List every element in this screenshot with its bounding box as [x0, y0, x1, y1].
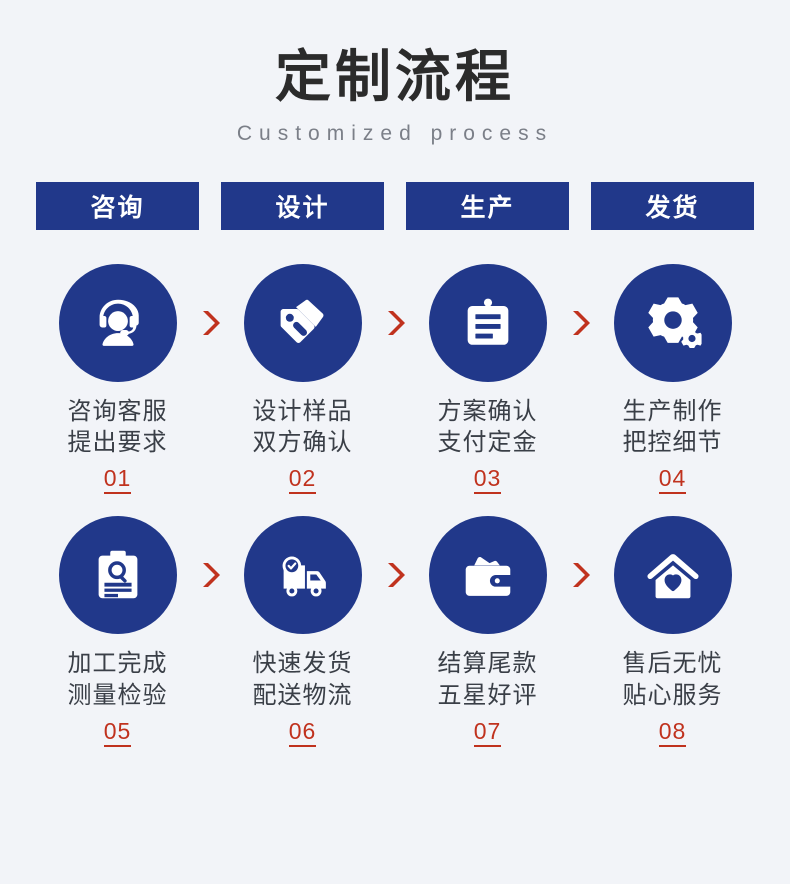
- step-line-2: 双方确认: [221, 427, 384, 459]
- tab-design[interactable]: 设计: [221, 182, 384, 230]
- step-icon-circle: [59, 264, 177, 382]
- step-line-2: 配送物流: [221, 680, 384, 712]
- step-01[interactable]: 咨询客服 提出要求 01: [36, 264, 199, 495]
- step-07[interactable]: 结算尾款 五星好评 07: [406, 516, 569, 747]
- step-icon-circle: [59, 516, 177, 634]
- step-05[interactable]: 加工完成 测量检验 05: [36, 516, 199, 747]
- wallet-icon: [457, 544, 519, 606]
- step-number: 03: [474, 466, 502, 494]
- clipboard-document-icon: [457, 292, 519, 354]
- step-arrow-6: [569, 516, 591, 590]
- tab-label: 生产: [460, 188, 514, 224]
- tab-label: 咨询: [90, 188, 144, 224]
- step-line-1: 生产制作: [591, 396, 754, 428]
- step-number: 06: [289, 719, 317, 747]
- tab-consultation[interactable]: 咨询: [36, 182, 199, 230]
- chevron-right-icon: [384, 560, 406, 590]
- page-heading: 定制流程 Customized process: [0, 0, 790, 146]
- gears-icon: [642, 292, 704, 354]
- step-icon-circle: [244, 516, 362, 634]
- step-line-2: 支付定金: [406, 427, 569, 459]
- step-line-1: 设计样品: [221, 396, 384, 428]
- step-line-2: 把控细节: [591, 427, 754, 459]
- step-arrow-3: [569, 264, 591, 338]
- step-08[interactable]: 售后无忧 贴心服务 08: [591, 516, 754, 747]
- step-description: 快速发货 配送物流: [221, 648, 384, 711]
- headset-support-icon: [87, 292, 149, 354]
- step-line-1: 方案确认: [406, 396, 569, 428]
- step-arrow-5: [384, 516, 406, 590]
- step-06[interactable]: 快速发货 配送物流 06: [221, 516, 384, 747]
- step-number: 04: [659, 466, 687, 494]
- step-number: 08: [659, 719, 687, 747]
- step-description: 方案确认 支付定金: [406, 396, 569, 459]
- step-number: 05: [104, 719, 132, 747]
- tab-shipping[interactable]: 发货: [591, 182, 754, 230]
- step-number: 02: [289, 466, 317, 494]
- process-steps-row-1: 咨询客服 提出要求 01: [0, 264, 790, 495]
- step-04[interactable]: 生产制作 把控细节 04: [591, 264, 754, 495]
- step-description: 售后无忧 贴心服务: [591, 648, 754, 711]
- customized-process-page: 定制流程 Customized process 咨询 设计 生产 发货: [0, 0, 790, 884]
- step-description: 设计样品 双方确认: [221, 396, 384, 459]
- page-title: 定制流程: [0, 46, 790, 108]
- chevron-right-icon: [199, 560, 221, 590]
- page-subtitle: Customized process: [0, 122, 790, 146]
- chevron-right-icon: [199, 308, 221, 338]
- step-number: 07: [474, 719, 502, 747]
- chevron-right-icon: [569, 560, 591, 590]
- step-line-1: 结算尾款: [406, 648, 569, 680]
- tab-label: 设计: [275, 188, 329, 224]
- step-icon-circle: [244, 264, 362, 382]
- step-icon-circle: [614, 264, 732, 382]
- step-description: 结算尾款 五星好评: [406, 648, 569, 711]
- step-line-1: 咨询客服: [36, 396, 199, 428]
- tab-production[interactable]: 生产: [406, 182, 569, 230]
- step-line-2: 贴心服务: [591, 680, 754, 712]
- process-steps-row-2: 加工完成 测量检验 05: [0, 516, 790, 747]
- price-tags-icon: [272, 292, 334, 354]
- step-icon-circle: [429, 264, 547, 382]
- step-icon-circle: [429, 516, 547, 634]
- clipboard-search-icon: [87, 544, 149, 606]
- step-line-1: 加工完成: [36, 648, 199, 680]
- chevron-right-icon: [384, 308, 406, 338]
- step-icon-circle: [614, 516, 732, 634]
- process-stage-tabs: 咨询 设计 生产 发货: [0, 182, 790, 230]
- step-02[interactable]: 设计样品 双方确认 02: [221, 264, 384, 495]
- step-line-1: 售后无忧: [591, 648, 754, 680]
- delivery-truck-check-icon: [272, 544, 334, 606]
- house-heart-icon: [642, 544, 704, 606]
- step-description: 咨询客服 提出要求: [36, 396, 199, 459]
- chevron-right-icon: [569, 308, 591, 338]
- step-arrow-1: [199, 264, 221, 338]
- step-line-2: 测量检验: [36, 680, 199, 712]
- step-arrow-2: [384, 264, 406, 338]
- step-line-2: 提出要求: [36, 427, 199, 459]
- tab-label: 发货: [645, 188, 699, 224]
- step-description: 加工完成 测量检验: [36, 648, 199, 711]
- step-number: 01: [104, 466, 132, 494]
- step-03[interactable]: 方案确认 支付定金 03: [406, 264, 569, 495]
- step-description: 生产制作 把控细节: [591, 396, 754, 459]
- step-arrow-4: [199, 516, 221, 590]
- step-line-2: 五星好评: [406, 680, 569, 712]
- process-steps: 咨询客服 提出要求 01: [0, 264, 790, 747]
- step-line-1: 快速发货: [221, 648, 384, 680]
